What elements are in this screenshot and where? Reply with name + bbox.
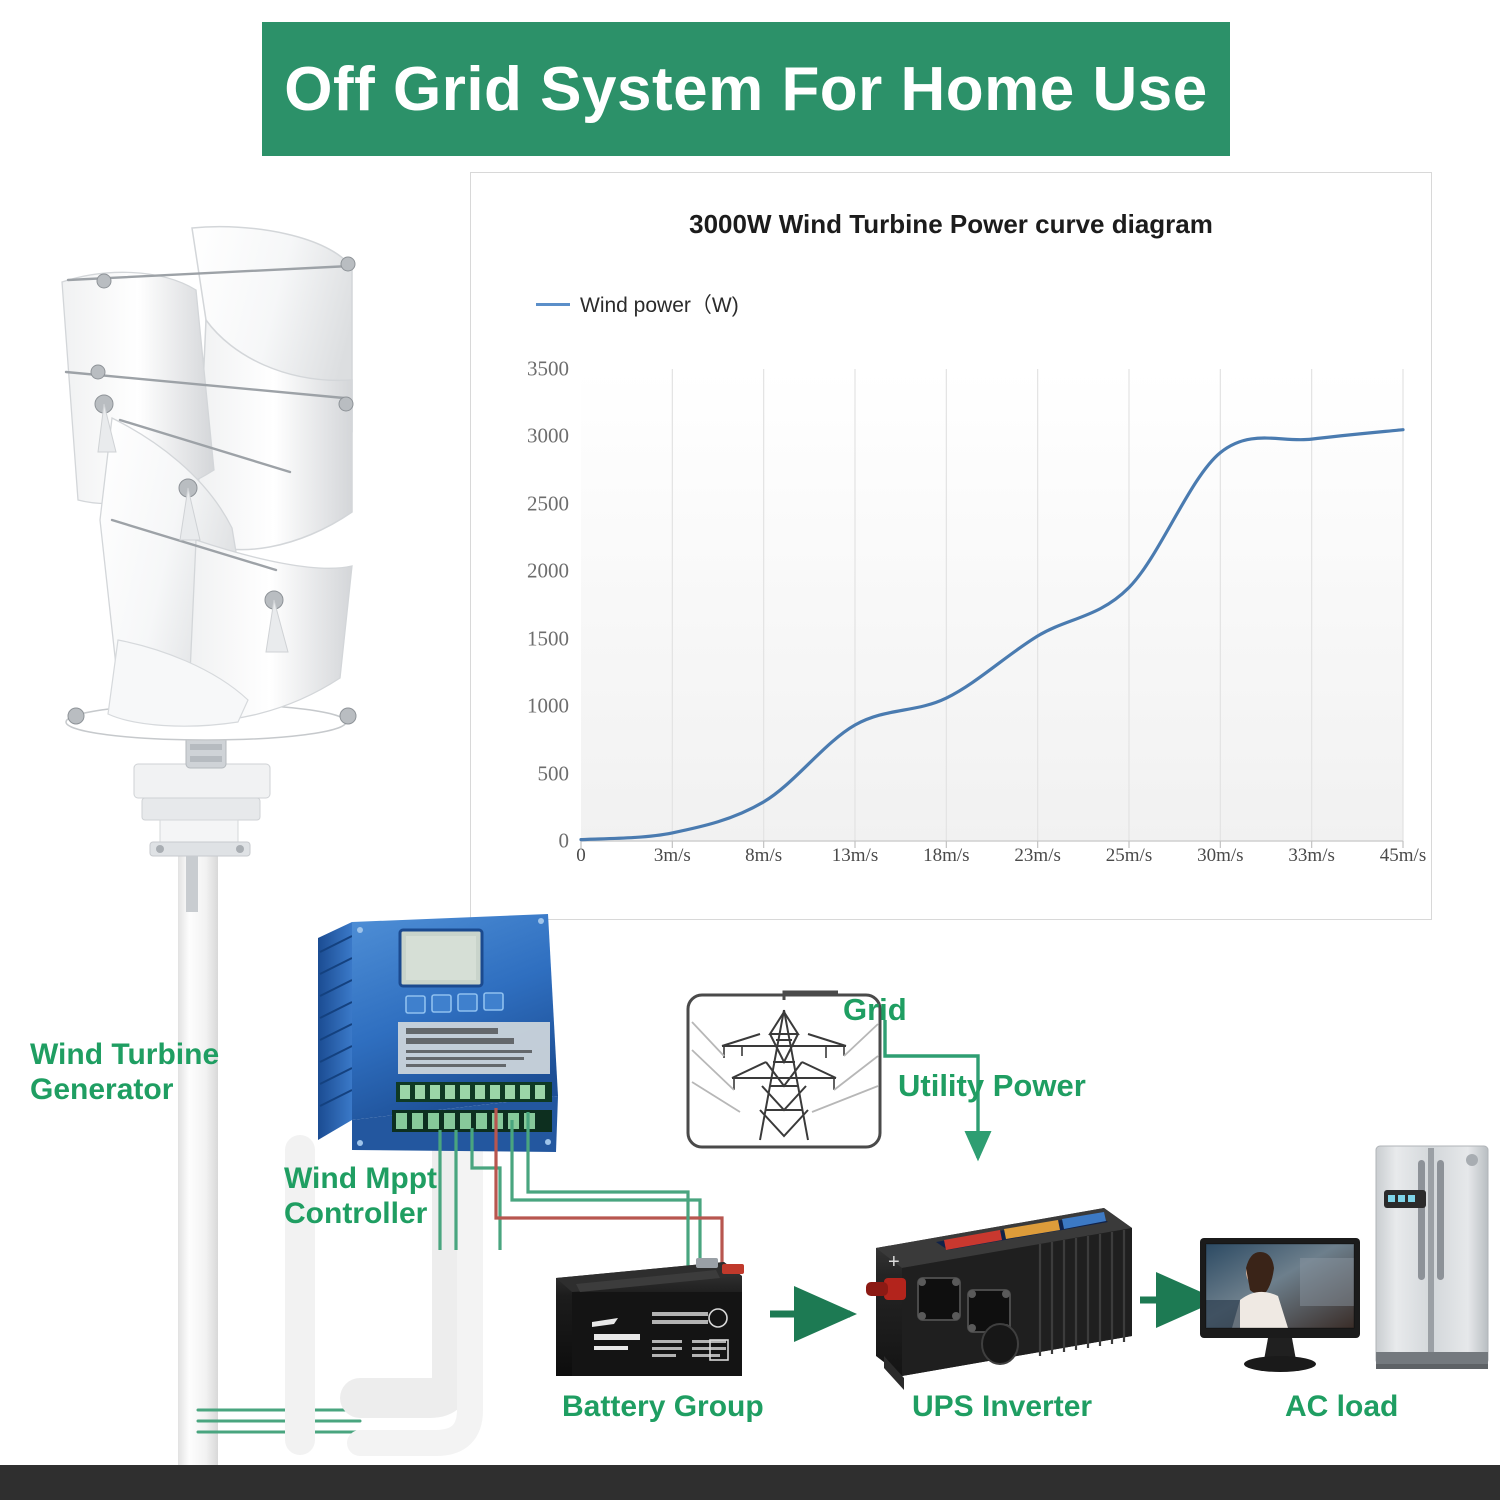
label-grid: Grid bbox=[843, 992, 907, 1028]
label-ups-inverter: UPS Inverter bbox=[912, 1390, 1092, 1425]
label-wind-mppt-controller: Wind Mppt Controller bbox=[284, 1162, 437, 1231]
svg-text:+: + bbox=[888, 1251, 900, 1273]
wind-mppt-controller-image bbox=[318, 914, 558, 1152]
floor-strip bbox=[0, 1465, 1500, 1500]
label-wind-turbine-generator: Wind Turbine Generator bbox=[30, 1038, 219, 1107]
poster-root: Off Grid System For Home Use 3000W Wind … bbox=[0, 0, 1500, 1500]
ups-inverter-image: + bbox=[866, 1208, 1132, 1390]
battery-group-image bbox=[556, 1258, 744, 1376]
diagram-artwork: + bbox=[0, 0, 1500, 1500]
label-utility-power: Utility Power bbox=[898, 1068, 1086, 1104]
label-ac-load: AC load bbox=[1285, 1390, 1398, 1425]
label-battery-group: Battery Group bbox=[562, 1390, 764, 1425]
refrigerator-image bbox=[1376, 1146, 1488, 1369]
tv-monitor-image bbox=[1200, 1238, 1360, 1372]
